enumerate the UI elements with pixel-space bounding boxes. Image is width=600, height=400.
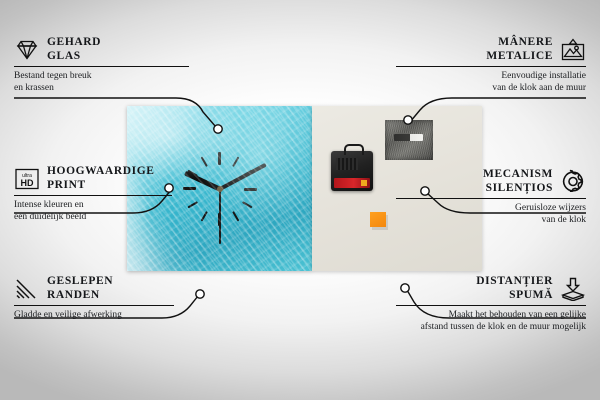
gear-icon xyxy=(560,170,586,194)
feature-desc: Maakt het behouden van een gelijke afsta… xyxy=(396,310,586,333)
feature-desc: Gladde en veilige afwerking xyxy=(14,310,204,322)
picture-hanging-icon xyxy=(560,38,586,62)
feature-title: GESLEPEN RANDEN xyxy=(47,275,113,302)
feature-head: GESLEPEN RANDEN xyxy=(14,275,204,302)
spacer-pad-icon xyxy=(560,277,586,301)
clock-movement xyxy=(331,151,373,191)
divider xyxy=(396,66,586,67)
hand-cap xyxy=(217,186,223,192)
feature-silent-mechanism: MECANISM SILENȚIOS Geruisloze wijzers va… xyxy=(396,168,586,226)
feature-title: HOOGWAARDIGE PRINT xyxy=(47,165,155,192)
polished-edges-icon xyxy=(14,277,40,301)
feature-head: MECANISM SILENȚIOS xyxy=(396,168,586,195)
feature-tempered-glass: GEHARD GLAS Bestand tegen breuk en krass… xyxy=(14,36,204,94)
divider xyxy=(14,66,189,67)
infographic-canvas: GEHARD GLAS Bestand tegen breuk en krass… xyxy=(0,0,600,400)
divider xyxy=(396,305,586,306)
feature-desc: Eenvoudige installatie van de klok aan d… xyxy=(396,71,586,94)
diamond-icon xyxy=(14,38,40,62)
feature-title: MÂNERE METALICE xyxy=(486,36,553,63)
hanger-loop xyxy=(344,144,364,155)
feature-title: DISTANȚIER SPUMĂ xyxy=(476,275,553,302)
metal-hanger-plate xyxy=(385,120,433,160)
feature-desc: Intense kleuren en een duidelijk beeld xyxy=(14,200,204,223)
feature-title: GEHARD GLAS xyxy=(47,36,101,63)
divider xyxy=(14,305,174,306)
svg-text:HD: HD xyxy=(21,178,34,188)
feature-foam-spacer: DISTANȚIER SPUMĂ Maakt het behouden van … xyxy=(396,275,586,333)
battery xyxy=(334,178,370,188)
feature-head: ultra HD HOOGWAARDIGE PRINT xyxy=(14,165,204,192)
feature-head: DISTANȚIER SPUMĂ xyxy=(396,275,586,302)
divider xyxy=(396,198,586,199)
hanger-slot xyxy=(394,134,423,141)
feature-desc: Bestand tegen breuk en krassen xyxy=(14,71,204,94)
feature-polished-edges: GESLEPEN RANDEN Gladde en veilige afwerk… xyxy=(14,275,204,322)
feature-hd-print: ultra HD HOOGWAARDIGE PRINT Intense kleu… xyxy=(14,165,204,223)
feature-metal-handles: MÂNERE METALICE Eenvoudige installatie v… xyxy=(396,36,586,94)
movement-vent xyxy=(336,158,358,170)
divider xyxy=(14,195,172,196)
feature-head: MÂNERE METALICE xyxy=(396,36,586,63)
feature-head: GEHARD GLAS xyxy=(14,36,204,63)
second-hand xyxy=(219,189,221,244)
ultra-hd-icon: ultra HD xyxy=(14,167,40,191)
foam-spacer xyxy=(370,212,386,227)
feature-desc: Geruisloze wijzers van de klok xyxy=(396,203,586,226)
feature-title: MECANISM SILENȚIOS xyxy=(483,168,553,195)
